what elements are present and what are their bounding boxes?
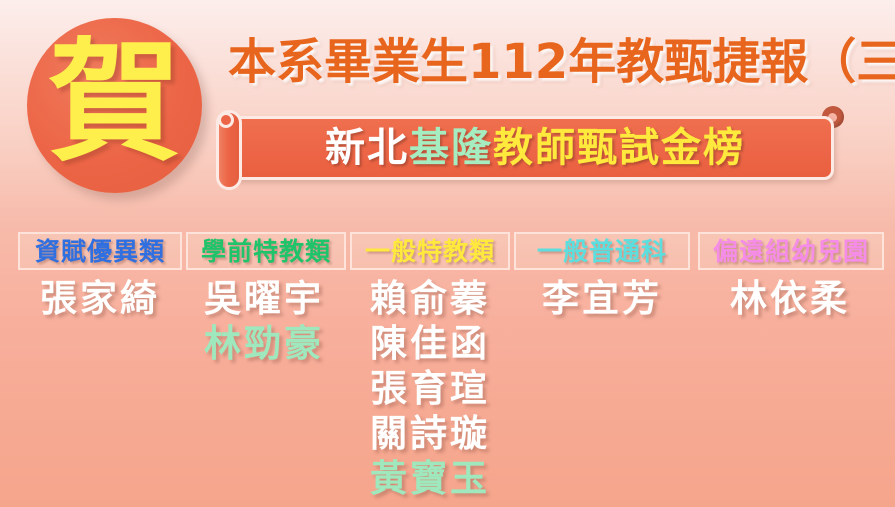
seal-character: 賀	[49, 37, 181, 169]
student-name: 賴俞蓁	[370, 276, 490, 320]
student-name: 林依柔	[730, 276, 850, 320]
student-name: 林勁豪	[204, 321, 324, 365]
banner-text: 新北基隆教師甄試金榜	[325, 128, 745, 168]
student-name: 陳佳函	[370, 321, 490, 365]
name-columns: 張家綺吳曜宇林勁豪賴俞蓁陳佳函張育瑄關詩璇黃寶玉李宜芳林依柔	[0, 276, 895, 507]
category-header-3: 一般特教類	[350, 232, 510, 270]
banner-body: 新北基隆教師甄試金榜	[226, 116, 834, 180]
category-header-2: 學前特教類	[186, 232, 346, 270]
banner-text-subject: 教師甄試金榜	[493, 125, 745, 171]
category-header-4: 一般普通科	[514, 232, 690, 270]
scroll-rod-knob-icon	[218, 112, 234, 128]
page-title: 本系畢業生112年教甄捷報（三）	[228, 31, 878, 93]
category-label: 一般普通科	[537, 239, 667, 264]
congratulations-seal: 賀	[27, 18, 202, 193]
student-name: 李宜芳	[542, 276, 662, 320]
category-label: 一般特教類	[365, 239, 495, 264]
student-name: 黃寶玉	[370, 456, 490, 500]
banner-text-region: 新北	[325, 125, 409, 171]
student-name: 關詩璇	[370, 411, 490, 455]
category-header-5: 偏遠組幼兒園	[698, 232, 884, 270]
category-label: 偏遠組幼兒園	[713, 239, 869, 264]
category-label: 學前特教類	[201, 239, 331, 264]
category-header-1: 資賦優異類	[18, 232, 182, 270]
category-label: 資賦優異類	[35, 239, 165, 264]
congratulations-poster: 賀 本系畢業生112年教甄捷報（三） 新北基隆教師甄試金榜 資賦優異類學前特教類…	[0, 0, 895, 507]
category-header-row: 資賦優異類學前特教類一般特教類一般普通科偏遠組幼兒園	[0, 232, 895, 270]
banner-text-city: 基隆	[409, 125, 493, 171]
student-name: 吳曜宇	[204, 276, 324, 320]
student-name: 張育瑄	[370, 366, 490, 410]
scroll-banner: 新北基隆教師甄試金榜	[212, 110, 850, 190]
student-name: 張家綺	[40, 276, 160, 320]
name-column-4: 李宜芳	[492, 276, 712, 320]
name-column-5: 林依柔	[680, 276, 895, 320]
